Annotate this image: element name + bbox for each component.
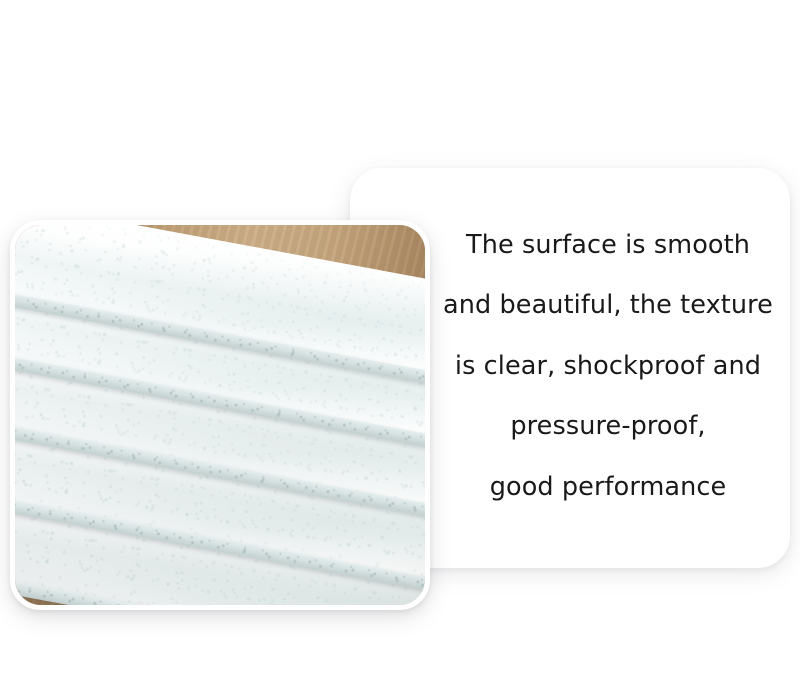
product-feature-banner: The surface is smooth and beautiful, the… (0, 0, 800, 695)
photo-card (10, 220, 430, 610)
caption-line-1: The surface is smooth (440, 215, 776, 276)
feature-caption: The surface is smooth and beautiful, the… (440, 215, 776, 518)
foam-sheet-stack (15, 225, 425, 605)
caption-line-3: is clear, shockproof and (440, 336, 776, 397)
caption-line-2: and beautiful, the texture (440, 275, 776, 336)
caption-line-4: pressure-proof, (440, 396, 776, 457)
caption-line-5: good performance (440, 457, 776, 518)
product-photo-eps-foam-sheets (15, 225, 425, 605)
